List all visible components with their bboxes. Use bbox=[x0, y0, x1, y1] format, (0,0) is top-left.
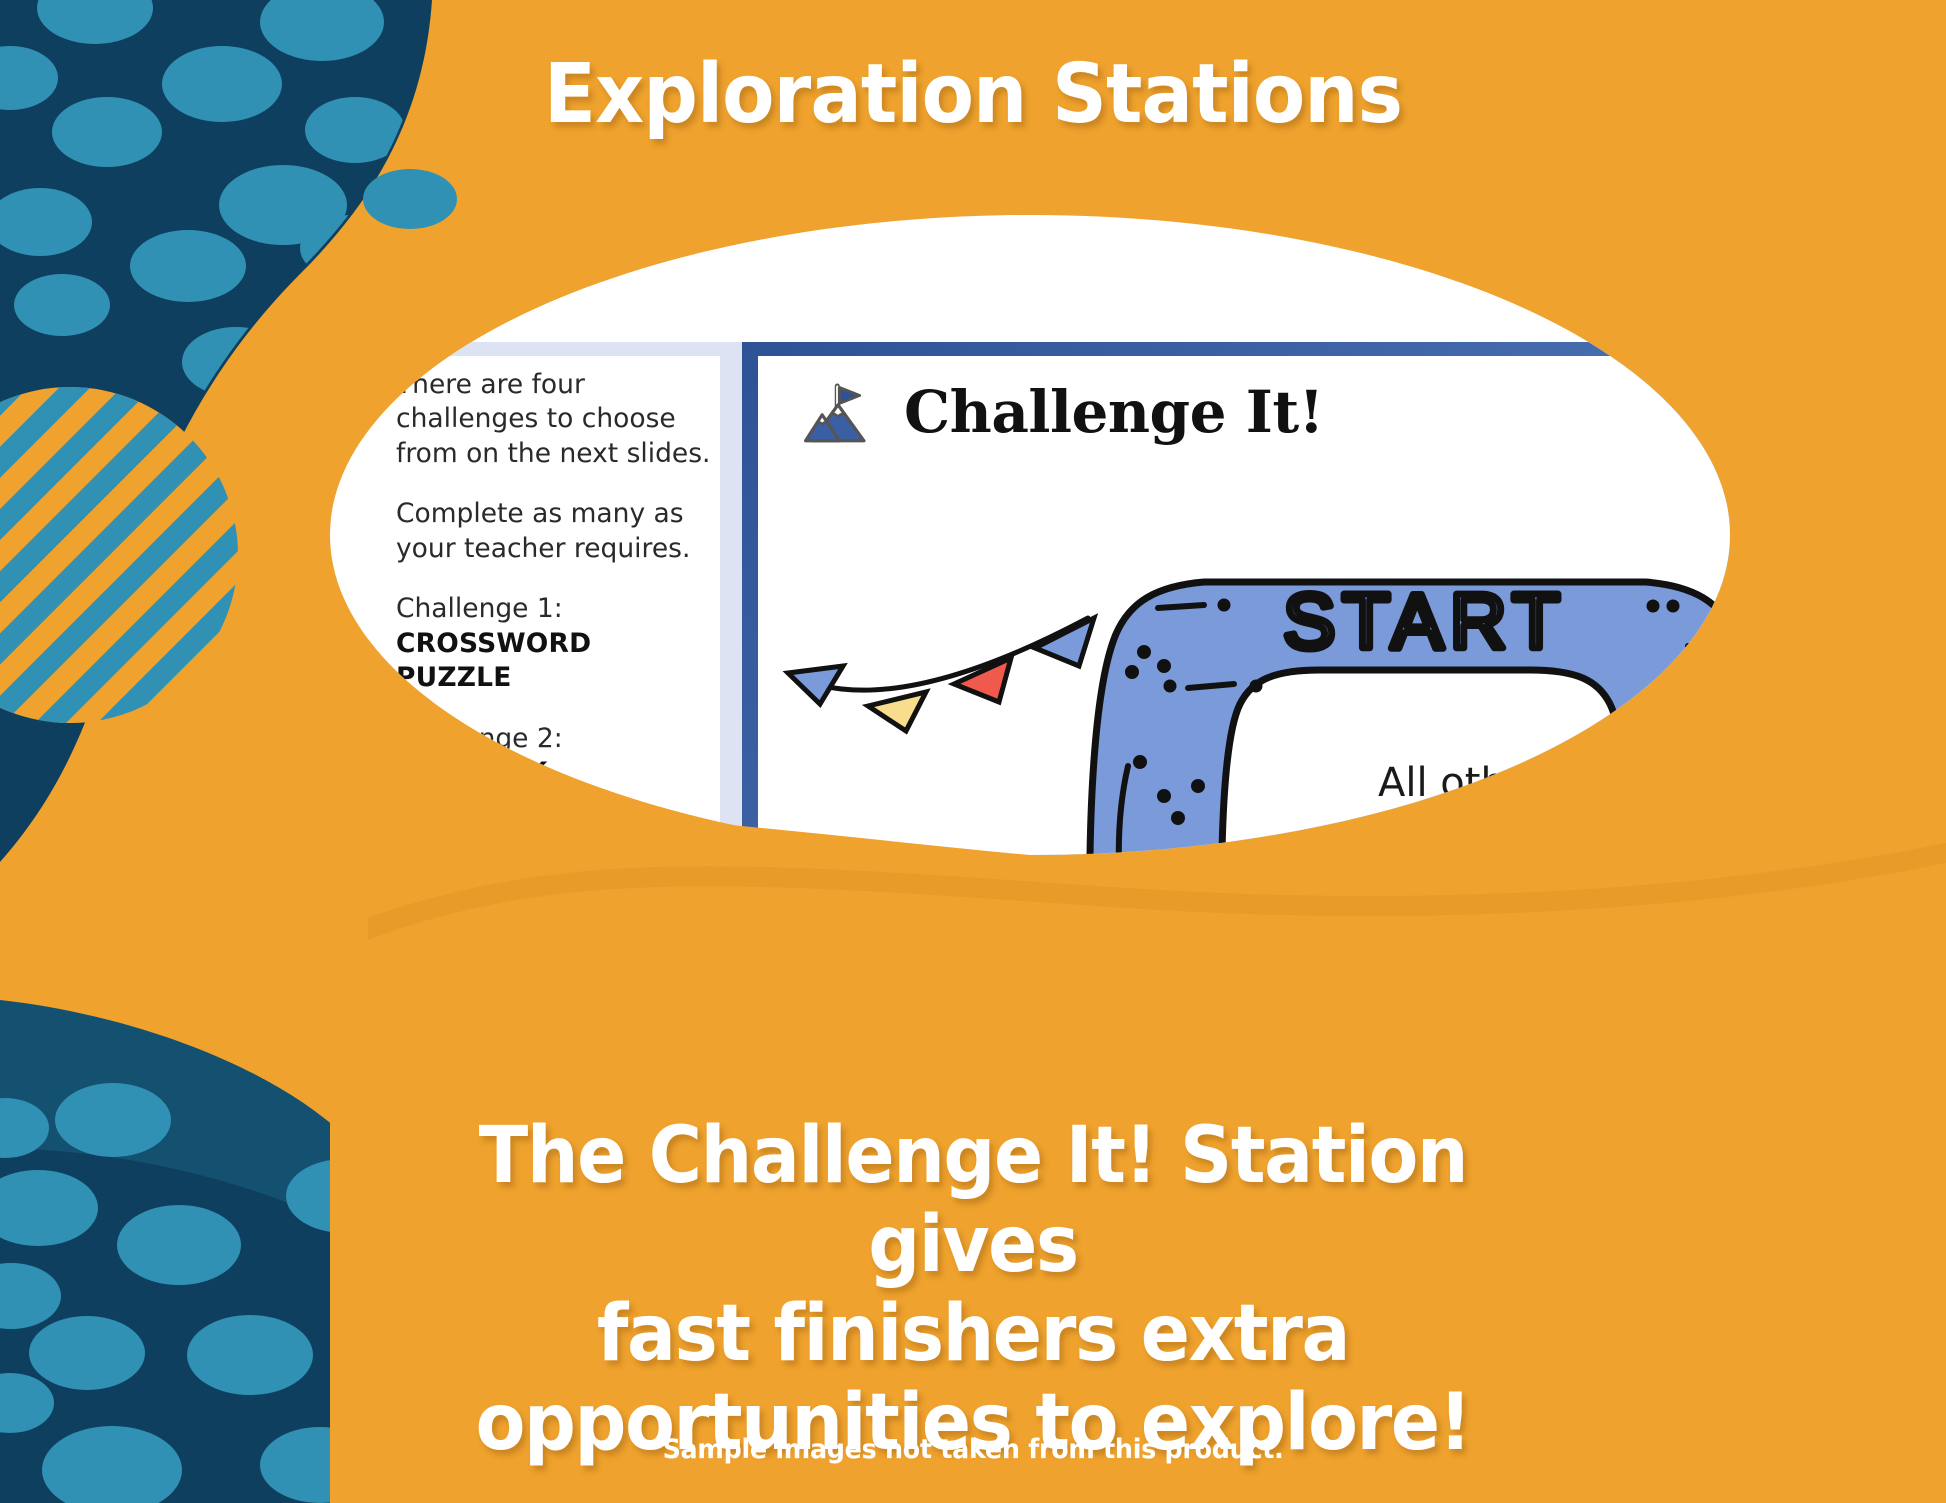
footer-headline: The Challenge It! Station gives fast fin… bbox=[68, 1112, 1878, 1468]
footer-headline-line-2: fast finishers extra bbox=[440, 1290, 1506, 1379]
footer-fineprint: Sample images not taken from this produc… bbox=[58, 1434, 1887, 1465]
poster-canvas: There are four challenges to choose from… bbox=[0, 0, 1946, 1503]
footer-headline-line-1: The Challenge It! Station gives bbox=[440, 1112, 1506, 1290]
page-title: Exploration Stations bbox=[68, 52, 1878, 137]
